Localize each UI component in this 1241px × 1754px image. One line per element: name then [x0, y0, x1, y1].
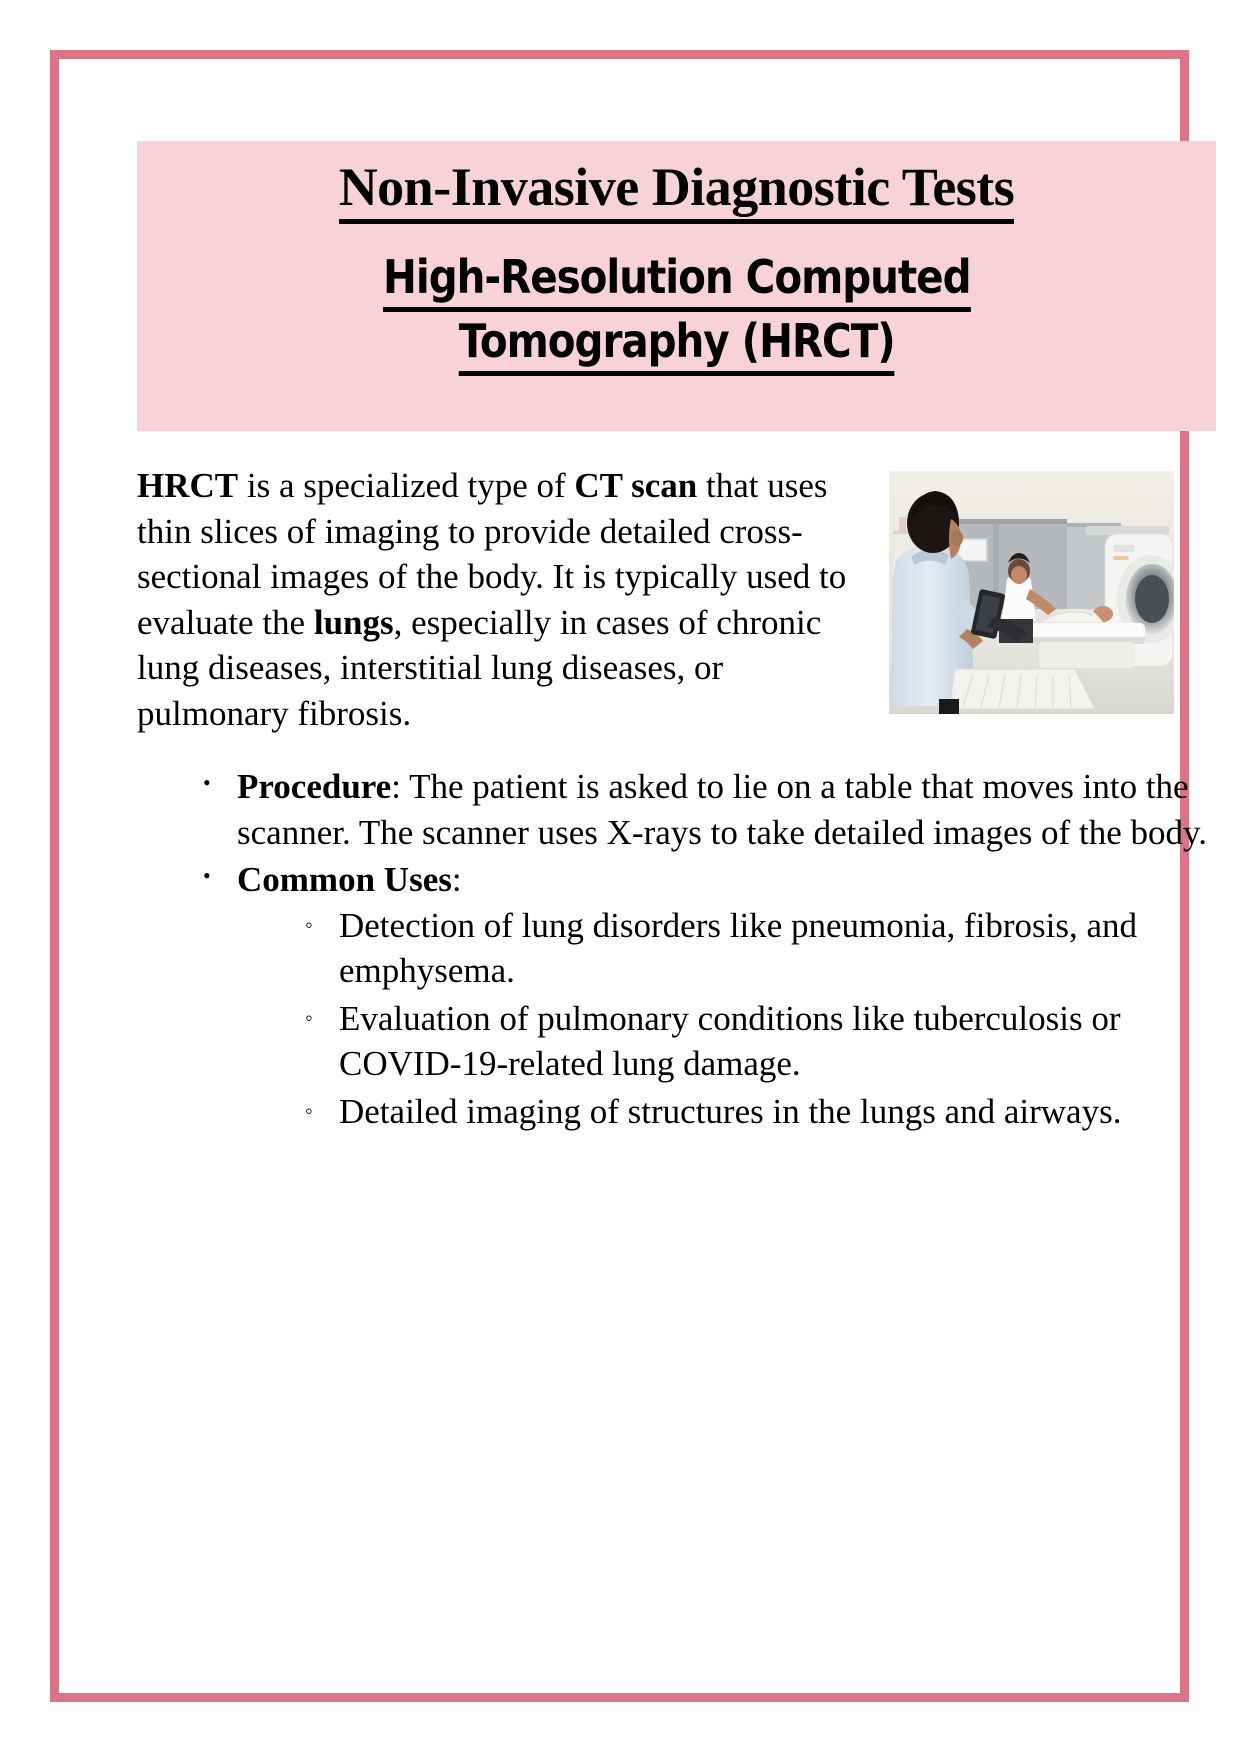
document-page: Non-Invasive Diagnostic Tests High-Resol…: [0, 0, 1241, 1754]
list-item: Detailed imaging of structures in the lu…: [301, 1089, 1222, 1135]
bullet-separator-procedure: :: [391, 767, 409, 806]
intro-bold-hrct: HRCT: [137, 466, 238, 505]
intro-bold-lungs: lungs: [314, 603, 394, 642]
intro-text-1: is a specialized type of: [238, 466, 574, 505]
intro-bold-ct-scan: CT scan: [574, 466, 697, 505]
list-item: Procedure: The patient is asked to lie o…: [197, 764, 1222, 855]
bullet-label-procedure: Procedure: [237, 767, 391, 806]
sub-bullet-list: Detection of lung disorders like pneumon…: [237, 903, 1222, 1135]
bullet-label-common-uses: Common Uses: [237, 860, 452, 899]
list-item: Detection of lung disorders like pneumon…: [301, 903, 1222, 994]
subtitle-line-2: Tomography (HRCT): [458, 312, 894, 376]
subtitle-line-1: High-Resolution Computed: [383, 248, 970, 312]
page-border-frame: Non-Invasive Diagnostic Tests High-Resol…: [50, 50, 1189, 1702]
ct-scan-room-photo: [889, 471, 1174, 714]
bullet-separator-common-uses: :: [452, 860, 462, 899]
page-title: Non-Invasive Diagnostic Tests: [339, 157, 1015, 224]
subtitle-block: High-Resolution Computed Tomography (HRC…: [147, 248, 1206, 376]
list-item: Common Uses: Detection of lung disorders…: [197, 857, 1222, 1134]
title-banner: Non-Invasive Diagnostic Tests High-Resol…: [137, 141, 1216, 431]
bullet-list: Procedure: The patient is asked to lie o…: [137, 764, 1222, 1134]
list-item: Evaluation of pulmonary conditions like …: [301, 996, 1222, 1087]
body-content: HRCT is a specialized type of CT scan th…: [137, 463, 1222, 1136]
